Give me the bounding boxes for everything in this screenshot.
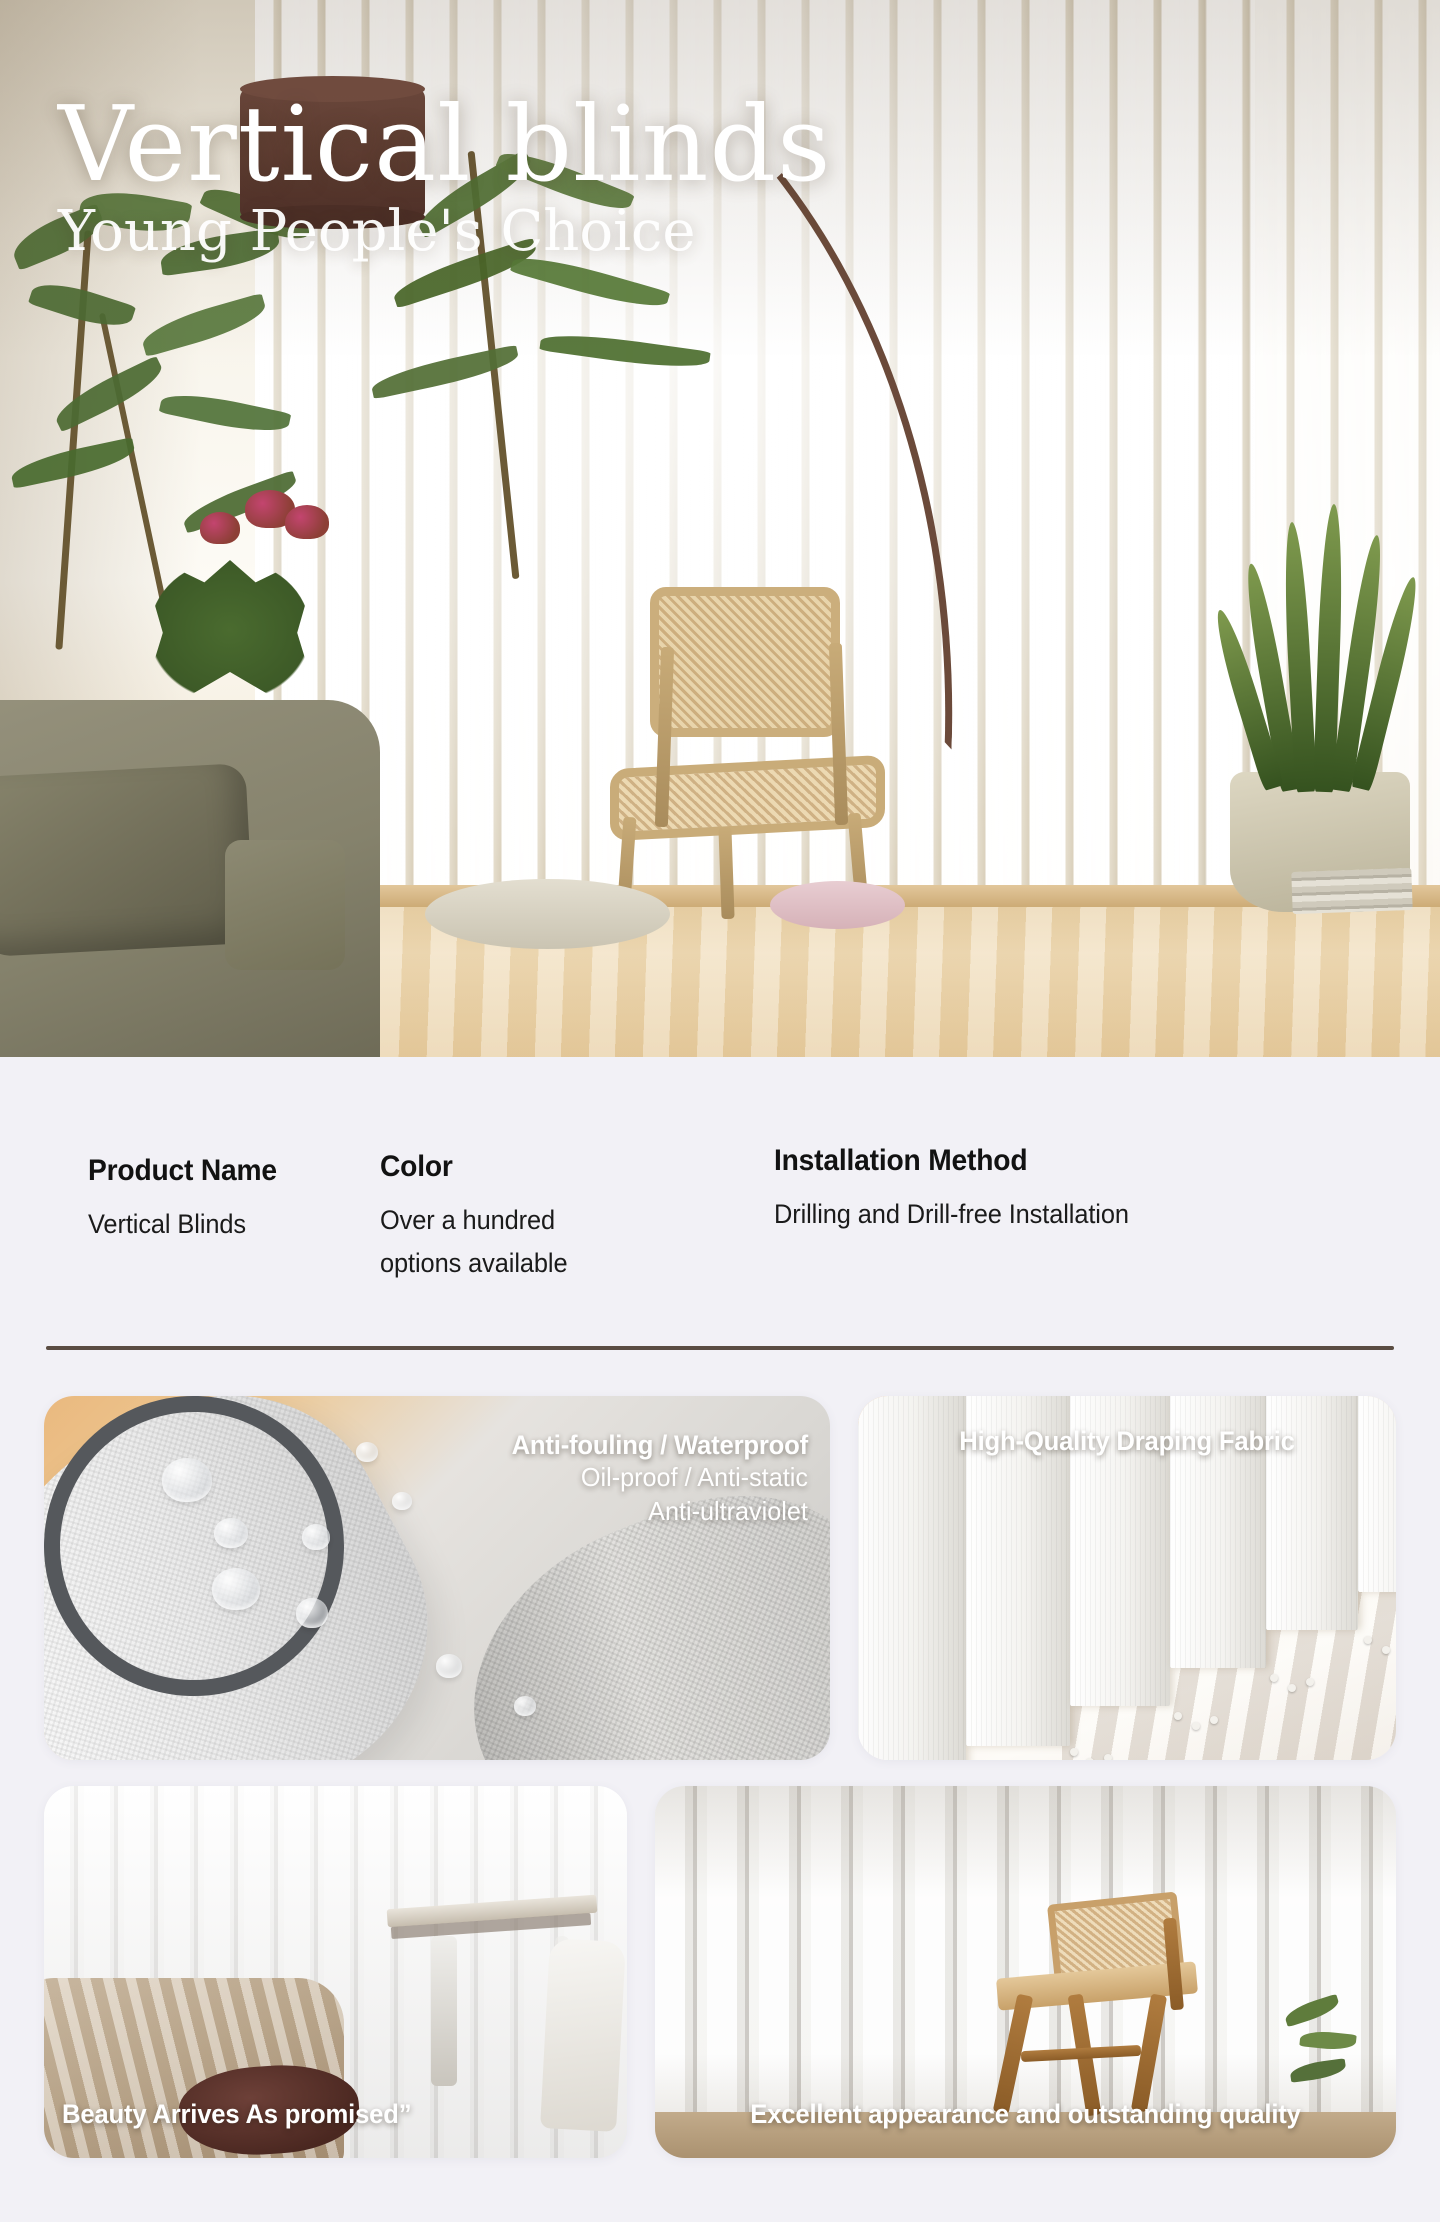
section-divider	[46, 1346, 1394, 1350]
spec-row: Product Name Vertical Blinds Color Over …	[0, 1153, 1440, 1284]
feature-card-row-top: Anti-fouling / Waterproof Oil-proof / An…	[44, 1396, 1396, 1760]
hero-flower	[200, 512, 240, 544]
spec-installation-method: Installation Method Drilling and Drill-f…	[774, 1153, 1352, 1236]
caption-title: Beauty Arrives As promised”	[62, 2099, 411, 2130]
spec-product-name: Product Name Vertical Blinds	[88, 1153, 360, 1246]
card-caption-beauty-arrives: Beauty Arrives As promised”	[62, 2099, 430, 2130]
spec-label: Color	[380, 1149, 726, 1185]
hero-text-block: Vertical blinds Young People's Choice	[58, 92, 831, 261]
feature-card-draping-fabric[interactable]: High-Quality Draping Fabric	[858, 1396, 1396, 1760]
spec-value: Over a hundred options available	[380, 1199, 624, 1284]
hero-books	[1291, 868, 1412, 914]
caption-title: Excellent appearance and outstanding qua…	[674, 2099, 1378, 2130]
feature-card-grid: Anti-fouling / Waterproof Oil-proof / An…	[0, 1350, 1440, 2158]
product-detail-page: Vertical blinds Young People's Choice Pr…	[0, 0, 1440, 2222]
hero-rattan-chair	[600, 587, 900, 917]
hero-cushion	[0, 763, 255, 957]
hero-pouf	[425, 879, 670, 949]
caption-title: High-Quality Draping Fabric	[871, 1426, 1382, 1457]
hero-sofa-arm	[225, 840, 345, 970]
feature-card-row-bottom: Beauty Arrives As promised”	[44, 1786, 1396, 2158]
feature-card-beauty-arrives[interactable]: Beauty Arrives As promised”	[44, 1786, 627, 2158]
hero-pink-pouf	[770, 881, 905, 929]
spec-color: Color Over a hundred options available	[380, 1153, 748, 1284]
card-plant	[1284, 1992, 1374, 2102]
spec-value: Drilling and Drill-free Installation	[774, 1193, 1317, 1236]
hero-subtitle: Young People's Choice	[58, 202, 831, 261]
hero-banner: Vertical blinds Young People's Choice	[0, 0, 1440, 1057]
caption-title: Anti-fouling / Waterproof	[512, 1430, 808, 1461]
card-caption-draping-fabric: High-Quality Draping Fabric	[858, 1426, 1396, 1457]
spec-label: Installation Method	[774, 1143, 1317, 1179]
chair-backrest	[650, 587, 840, 737]
caption-line-3: Anti-ultraviolet	[505, 1495, 808, 1528]
card-caption-anti-fouling: Anti-fouling / Waterproof Oil-proof / An…	[496, 1430, 808, 1528]
feature-card-excellent-appearance[interactable]: Excellent appearance and outstanding qua…	[655, 1786, 1396, 2158]
wooden-chair	[981, 1898, 1221, 2128]
spec-value: Vertical Blinds	[88, 1203, 344, 1246]
feature-card-anti-fouling[interactable]: Anti-fouling / Waterproof Oil-proof / An…	[44, 1396, 830, 1760]
product-spec-section: Product Name Vertical Blinds Color Over …	[0, 1057, 1440, 1350]
spec-label: Product Name	[88, 1153, 344, 1189]
hero-flower	[285, 505, 329, 539]
hero-title: Vertical blinds	[58, 92, 831, 196]
card-caption-excellent-appearance: Excellent appearance and outstanding qua…	[655, 2099, 1396, 2130]
caption-line-2: Oil-proof / Anti-static	[505, 1461, 808, 1494]
